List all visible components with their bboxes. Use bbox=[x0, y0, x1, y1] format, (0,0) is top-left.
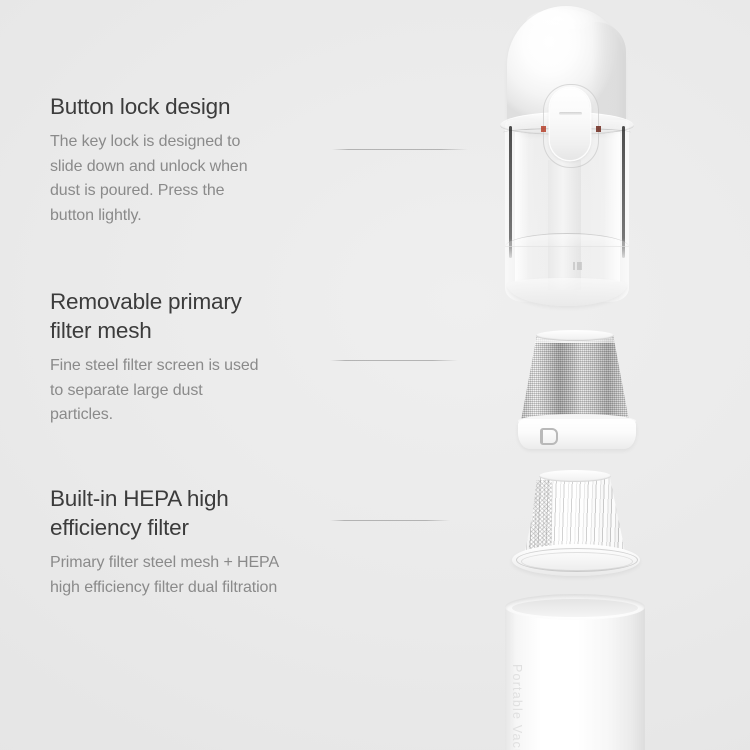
cup-highlight-left bbox=[515, 132, 529, 282]
lock-indicator-right bbox=[596, 126, 601, 132]
cup-edge-left bbox=[509, 126, 512, 258]
hepa-base-ring-inner bbox=[521, 552, 633, 571]
cup-highlight-right bbox=[604, 132, 620, 282]
lock-button-groove bbox=[559, 112, 582, 115]
steel-mesh-texture bbox=[520, 334, 630, 426]
body-brand-label: Portable Vacuum bbox=[510, 664, 524, 750]
steel-mesh-release-tab bbox=[540, 428, 558, 445]
cup-inner-tube bbox=[548, 160, 581, 290]
product-infographic: Button lock design The key lock is desig… bbox=[0, 0, 750, 750]
hepa-filter-top-ring bbox=[539, 470, 611, 482]
body-cylinder bbox=[505, 606, 645, 750]
cup-edge-right bbox=[622, 126, 625, 258]
lock-indicator-left bbox=[541, 126, 546, 132]
product-exploded-view: Portable Vacuum bbox=[0, 0, 750, 750]
dome-highlight bbox=[526, 9, 596, 35]
cup-marking bbox=[573, 262, 582, 270]
lock-button[interactable] bbox=[550, 88, 590, 160]
steel-mesh-top-ring bbox=[536, 330, 614, 341]
steel-mesh-base-ring bbox=[518, 419, 636, 449]
body-cylinder-inner-opening bbox=[512, 599, 638, 617]
hepa-filter-mesh-detail bbox=[528, 480, 552, 554]
